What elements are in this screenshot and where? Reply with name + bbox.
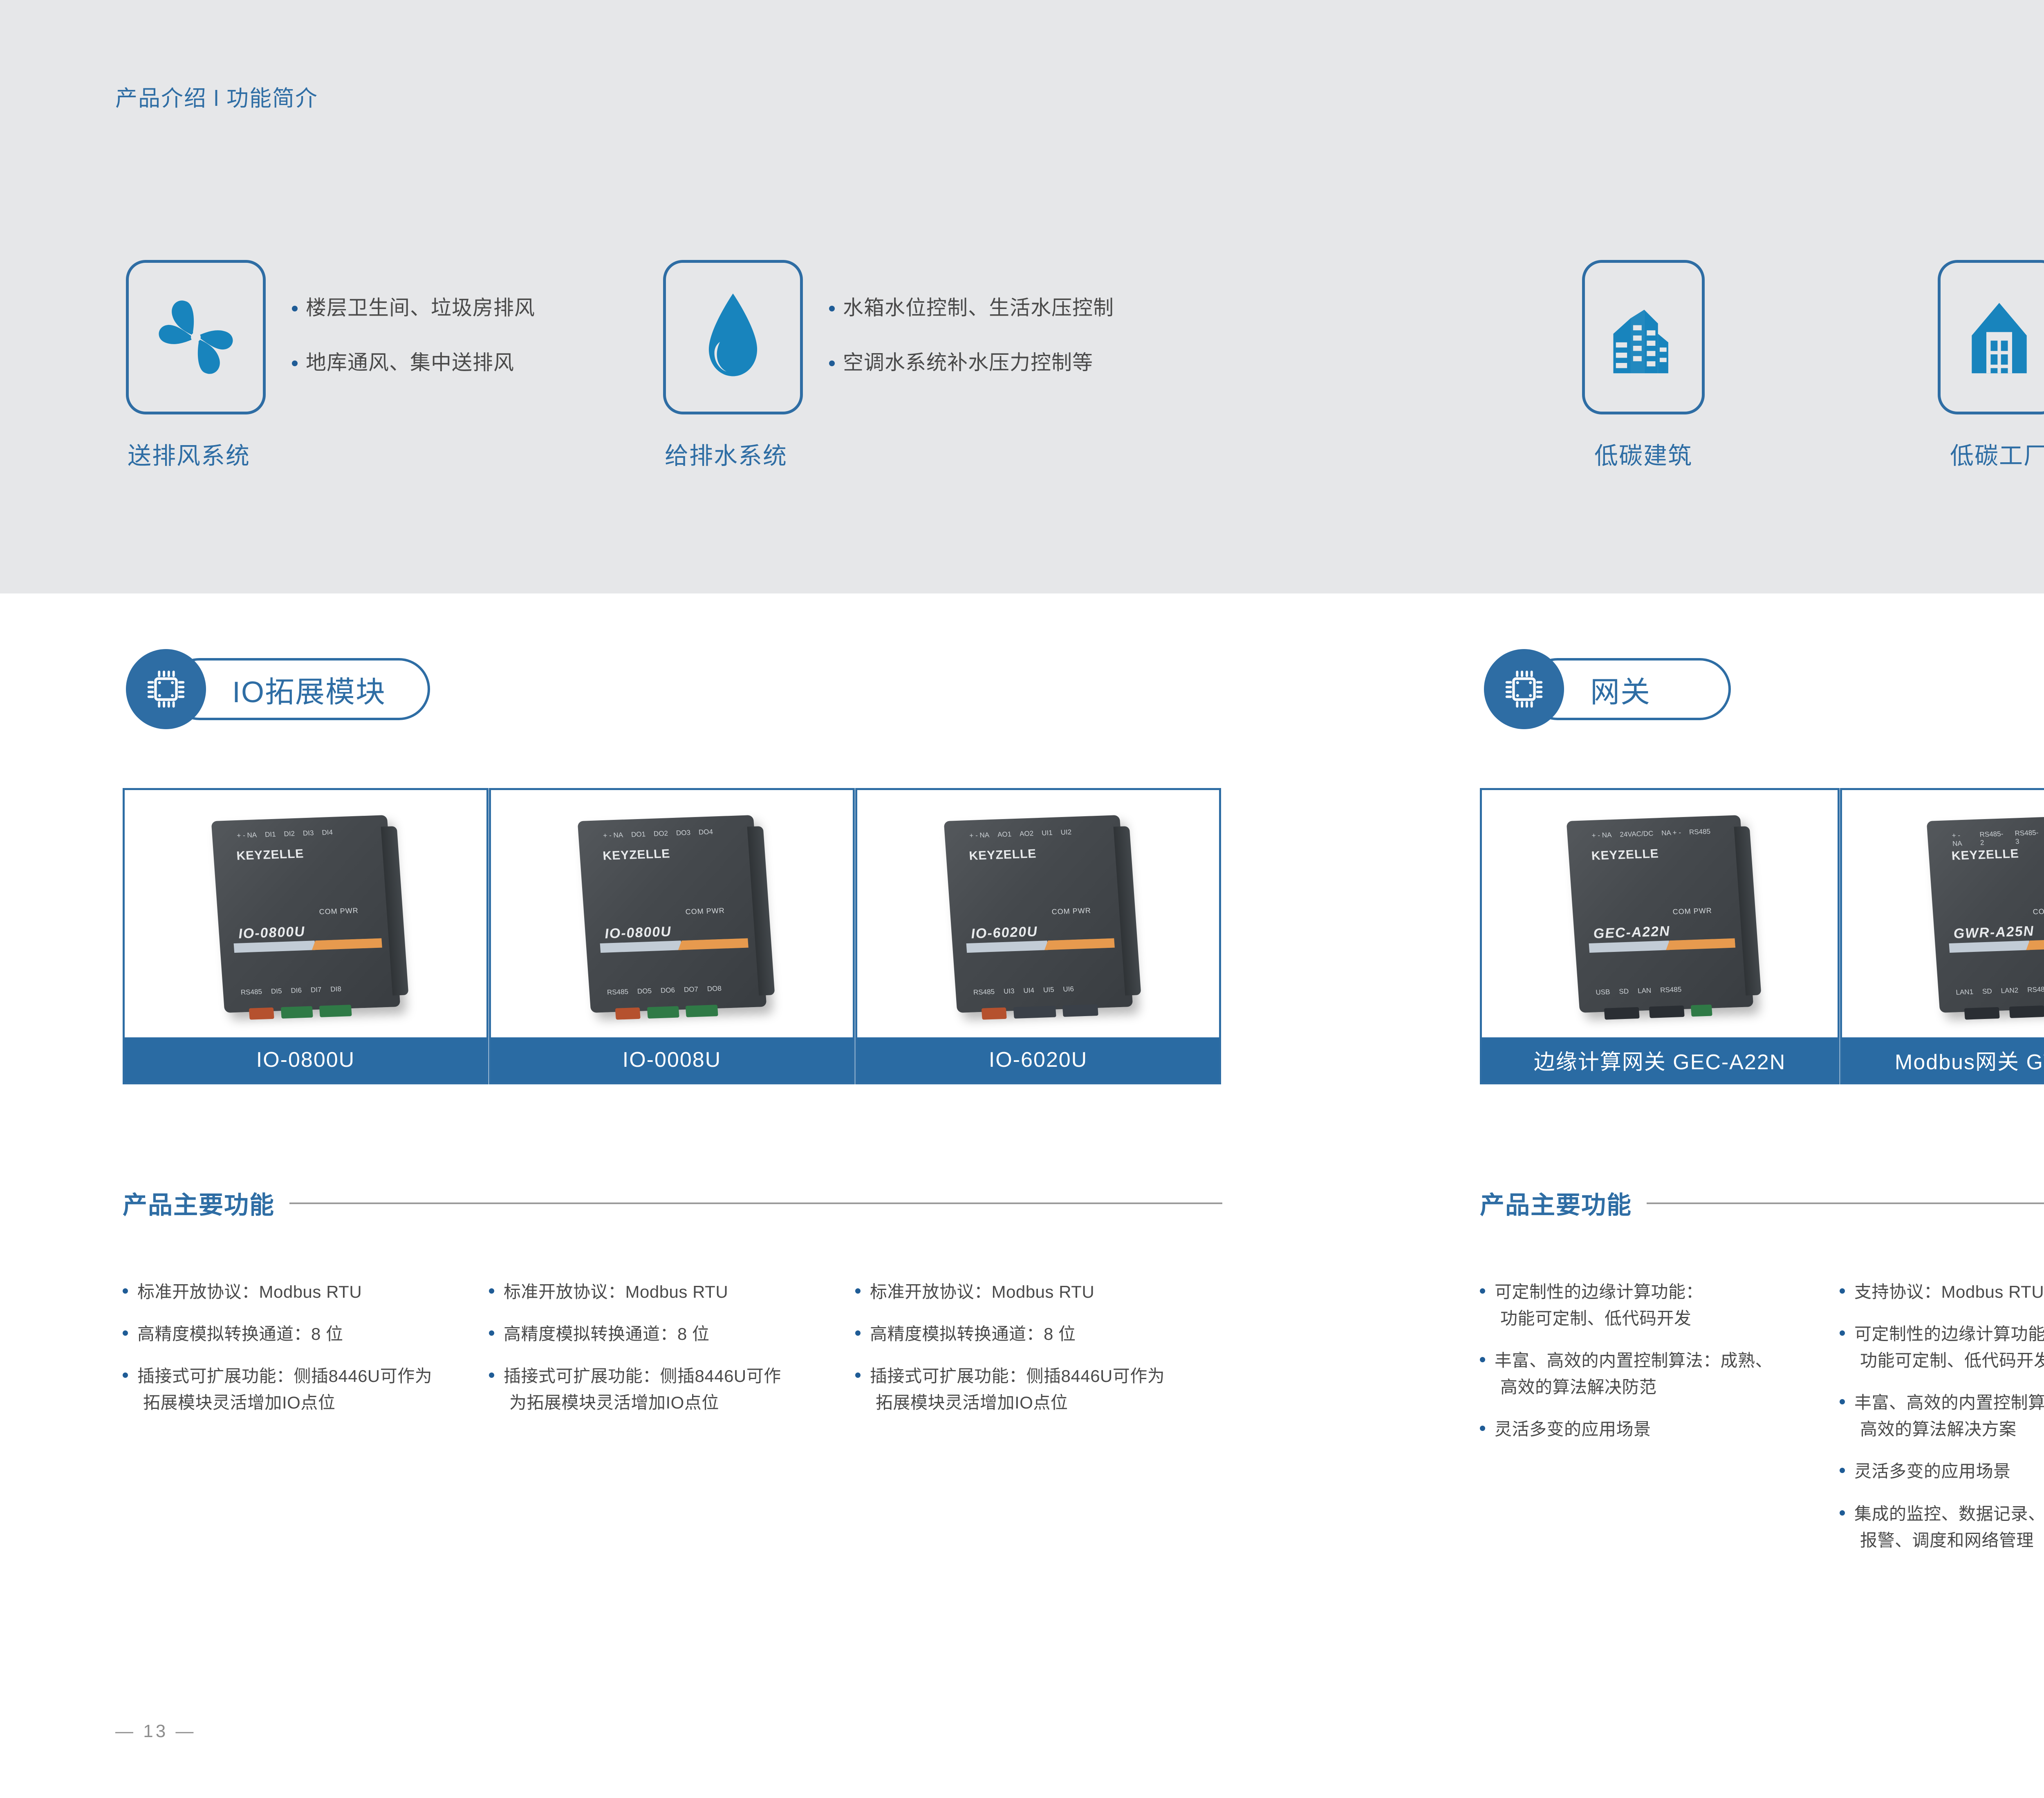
feature-column: 可定制性的边缘计算功能： 功能可定制、低代码开发 丰富、高效的内置控制算法：成熟… — [1478, 1279, 1822, 1458]
product-image: + - NARS485-2RS485-3RS485-4 KEYZELLE GWR… — [1842, 790, 2044, 1037]
feature-column: 标准开放协议：Modbus RTU 高精度模拟转换通道：8 位 插接式可扩展功能… — [487, 1279, 839, 1431]
feature-item-line2: 功能可定制、低代码开发 — [1854, 1347, 2044, 1374]
product-caption: 边缘计算网关 GEC-A22N — [1482, 1037, 1838, 1082]
product-card[interactable]: + - NA24VAC/DCNA + -RS485 KEYZELLE GEC-A… — [1480, 788, 1840, 1084]
feature-item: 丰富、高效的内置控制算法：成熟、 高效的算法解决防范 — [1478, 1347, 1822, 1400]
scenario-water: 给排水系统 水箱水位控制、生活水压控制 空调水系统补水压力控制等 — [663, 260, 803, 414]
scenario-bullets: 楼层卫生间、垃圾房排风 地库通风、集中送排风 — [289, 294, 535, 403]
feature-item-line2: 拓展模块灵活增加IO点位 — [870, 1389, 1213, 1416]
features-heading-label: 产品主要功能 — [123, 1185, 275, 1221]
scenario-bullet: 地库通风、集中送排风 — [289, 349, 535, 377]
device-top-ports: + - NARS485-2RS485-3RS485-4 — [1952, 827, 2044, 848]
product-image: + - NADI1DI2DI3DI4 KEYZELLE IO-0800U COM… — [125, 790, 486, 1037]
factory-icon-box — [1938, 260, 2044, 414]
product-image: + - NAAO1AO2UI1UI2 KEYZELLE IO-6020U COM… — [857, 790, 1219, 1037]
device-leds: COM PWR — [1672, 906, 1712, 916]
scenario-bullet: 水箱水位控制、生活水压控制 — [827, 294, 1114, 322]
product-caption: IO-6020U — [857, 1037, 1219, 1082]
office-building-icon-box — [1582, 260, 1705, 414]
product-card[interactable]: + - NADI1DI2DI3DI4 KEYZELLE IO-0800U COM… — [123, 788, 489, 1084]
page-number-left: — 13 — — [115, 1721, 196, 1742]
scenario-airflow: 送排风系统 楼层卫生间、垃圾房排风 地库通风、集中送排风 — [126, 260, 266, 414]
device-leds: COM PWR — [2033, 906, 2044, 916]
factory-icon — [1963, 294, 2035, 380]
device-leds: COM PWR — [685, 906, 725, 916]
device-model: GEC-A22N — [1593, 923, 1671, 941]
scenario-label: 低碳工厂 — [1950, 437, 2044, 471]
heading-rule — [1647, 1202, 2044, 1204]
product-card[interactable]: + - NADO1DO2DO3DO4 KEYZELLE IO-0800U COM… — [489, 788, 855, 1084]
device-bottom-ports: LAN1SDLAN2RS485-1 — [1955, 984, 2044, 996]
device-top-ports: + - NA24VAC/DCNA + -RS485 — [1591, 827, 1717, 840]
scenario-low-carbon-factory: 低碳工厂 — [1938, 260, 2044, 414]
features-heading-gateway: 产品主要功能 — [1480, 1185, 2044, 1221]
water-drop-icon-box — [663, 260, 803, 414]
device-top-ports: + - NAAO1AO2UI1UI2 — [969, 827, 1096, 840]
device-bottom-ports: RS485DO5DO6DO7DO8 — [607, 984, 741, 996]
device-brand: KEYZELLE — [968, 846, 1037, 863]
scenario-label: 送排风系统 — [128, 437, 250, 471]
device-illustration: + - NADI1DI2DI3DI4 KEYZELLE IO-0800U COM… — [211, 815, 400, 1013]
badge-label: IO拓展模块 — [232, 668, 386, 711]
heading-rule — [289, 1202, 1222, 1204]
chip-icon — [1484, 649, 1564, 729]
feature-item-line2: 高效的算法解决方案 — [1854, 1416, 2044, 1442]
scenario-label: 给排水系统 — [665, 437, 787, 471]
scenario-bullets: 水箱水位控制、生活水压控制 空调水系统补水压力控制等 — [827, 294, 1114, 403]
feature-item-line1: 插接式可扩展功能：侧插8446U可作为 — [870, 1366, 1165, 1386]
water-drop-icon — [694, 286, 772, 388]
device-brand: KEYZELLE — [1591, 846, 1659, 863]
feature-item-line1: 可定制性的边缘计算功能： — [1495, 1282, 1703, 1301]
scenario-label: 低碳建筑 — [1594, 437, 1692, 471]
device-illustration: + - NARS485-2RS485-3RS485-4 KEYZELLE GWR… — [1926, 815, 2044, 1013]
feature-item: 标准开放协议：Modbus RTU — [854, 1279, 1213, 1305]
feature-item-line2: 高效的算法解决防范 — [1495, 1374, 1822, 1400]
product-card[interactable]: + - NARS485-2RS485-3RS485-4 KEYZELLE GWR… — [1840, 788, 2044, 1084]
feature-column: 标准开放协议：Modbus RTU 高精度模拟转换通道：8 位 插接式可扩展功能… — [854, 1279, 1213, 1431]
feature-column: 支持协议：Modbus RTU 可定制性的边缘计算功能： 功能可定制、低代码开发… — [1838, 1279, 2044, 1569]
section-badge-io-module: IO拓展模块 — [126, 649, 437, 729]
feature-item: 灵活多变的应用场景 — [1478, 1416, 1822, 1442]
scenario-bullet: 楼层卫生间、垃圾房排风 — [289, 294, 535, 322]
product-caption: IO-0800U — [125, 1037, 486, 1082]
product-image: + - NA24VAC/DCNA + -RS485 KEYZELLE GEC-A… — [1482, 790, 1838, 1037]
feature-item: 插接式可扩展功能：侧插8446U可作为 拓展模块灵活增加IO点位 — [854, 1363, 1213, 1416]
device-leds: COM PWR — [319, 906, 359, 916]
feature-item: 可定制性的边缘计算功能： 功能可定制、低代码开发 — [1838, 1321, 2044, 1374]
device-model: IO-0800U — [604, 923, 672, 942]
feature-item-line1: 插接式可扩展功能：侧插8446U可作为 — [137, 1366, 432, 1386]
product-caption: IO-0008U — [491, 1037, 853, 1082]
fan-icon — [149, 290, 243, 384]
feature-column: 标准开放协议：Modbus RTU 高精度模拟转换通道：8 位 插接式可扩展功能… — [121, 1279, 473, 1431]
device-brand: KEYZELLE — [1951, 846, 2019, 863]
device-model: IO-0800U — [238, 923, 305, 942]
feature-item: 标准开放协议：Modbus RTU — [487, 1279, 839, 1305]
fan-icon-box — [126, 260, 266, 414]
feature-item-line2: 拓展模块灵活增加IO点位 — [137, 1389, 473, 1416]
feature-item: 高精度模拟转换通道：8 位 — [854, 1321, 1213, 1347]
scenario-low-carbon-building: 低碳建筑 — [1582, 260, 1705, 414]
feature-item: 高精度模拟转换通道：8 位 — [121, 1321, 473, 1347]
device-illustration: + - NAAO1AO2UI1UI2 KEYZELLE IO-6020U COM… — [944, 815, 1133, 1013]
feature-item: 支持协议：Modbus RTU — [1838, 1279, 2044, 1305]
feature-item: 标准开放协议：Modbus RTU — [121, 1279, 473, 1305]
device-illustration: + - NADO1DO2DO3DO4 KEYZELLE IO-0800U COM… — [577, 815, 766, 1013]
feature-item-line1: 丰富、高效的内置控制算法：成熟、 — [1854, 1393, 2044, 1412]
office-building-icon — [1605, 294, 1682, 380]
feature-item-line2: 报警、调度和网络管理 — [1854, 1527, 2044, 1554]
device-bottom-ports: RS485DI5DI6DI7DI8 — [240, 984, 374, 996]
product-image: + - NADO1DO2DO3DO4 KEYZELLE IO-0800U COM… — [491, 790, 853, 1037]
section-badge-gateway: 网关 — [1484, 649, 1737, 729]
feature-item: 插接式可扩展功能：侧插8446U可作 为拓展模块灵活增加IO点位 — [487, 1363, 839, 1416]
feature-item-line1: 插接式可扩展功能：侧插8446U可作 — [504, 1366, 781, 1386]
feature-item: 丰富、高效的内置控制算法：成熟、 高效的算法解决方案 — [1838, 1389, 2044, 1442]
badge-label: 网关 — [1590, 668, 1651, 711]
device-illustration: + - NA24VAC/DCNA + -RS485 KEYZELLE GEC-A… — [1566, 815, 1753, 1013]
scenario-bullet: 空调水系统补水压力控制等 — [827, 349, 1114, 377]
product-card[interactable]: + - NAAO1AO2UI1UI2 KEYZELLE IO-6020U COM… — [855, 788, 1221, 1084]
running-header-left: 产品介绍 l 功能简介 — [115, 80, 318, 112]
features-heading-label: 产品主要功能 — [1480, 1185, 1632, 1221]
feature-item-line1: 集成的监控、数据记录、能耗计量、 — [1854, 1504, 2044, 1523]
feature-item: 高精度模拟转换通道：8 位 — [487, 1321, 839, 1347]
product-caption: Modbus网关 GWR-A25N — [1842, 1037, 2044, 1082]
device-model: GWR-A25N — [1953, 923, 2035, 942]
brochure-page: 产品介绍 l 功能简介 产品介绍 l 功能简介 送排风系统 楼层卫生间、垃圾房排… — [0, 0, 2044, 1798]
feature-item: 插接式可扩展功能：侧插8446U可作为 拓展模块灵活增加IO点位 — [121, 1363, 473, 1416]
features-heading-io: 产品主要功能 — [123, 1185, 1222, 1221]
device-leds: COM PWR — [1051, 906, 1091, 916]
device-model: IO-6020U — [970, 923, 1038, 942]
feature-item: 可定制性的边缘计算功能： 功能可定制、低代码开发 — [1478, 1279, 1822, 1332]
device-top-ports: + - NADI1DI2DI3DI4 — [236, 827, 363, 840]
badge-pill: IO拓展模块 — [168, 658, 430, 720]
feature-item-line1: 丰富、高效的内置控制算法：成熟、 — [1495, 1351, 1773, 1370]
device-bottom-ports: USBSDLANRS485 — [1595, 984, 1728, 996]
feature-item: 灵活多变的应用场景 — [1838, 1458, 2044, 1485]
feature-item-line2: 为拓展模块灵活增加IO点位 — [504, 1389, 839, 1416]
device-bottom-ports: RS485UI3UI4UI5UI6 — [973, 984, 1107, 996]
feature-item-line1: 可定制性的边缘计算功能： — [1854, 1324, 2044, 1343]
chip-icon — [126, 649, 206, 729]
feature-item-line2: 功能可定制、低代码开发 — [1495, 1305, 1822, 1332]
device-brand: KEYZELLE — [236, 846, 304, 863]
device-top-ports: + - NADO1DO2DO3DO4 — [603, 827, 730, 840]
device-brand: KEYZELLE — [602, 846, 670, 863]
feature-item: 集成的监控、数据记录、能耗计量、 报警、调度和网络管理 — [1838, 1500, 2044, 1554]
